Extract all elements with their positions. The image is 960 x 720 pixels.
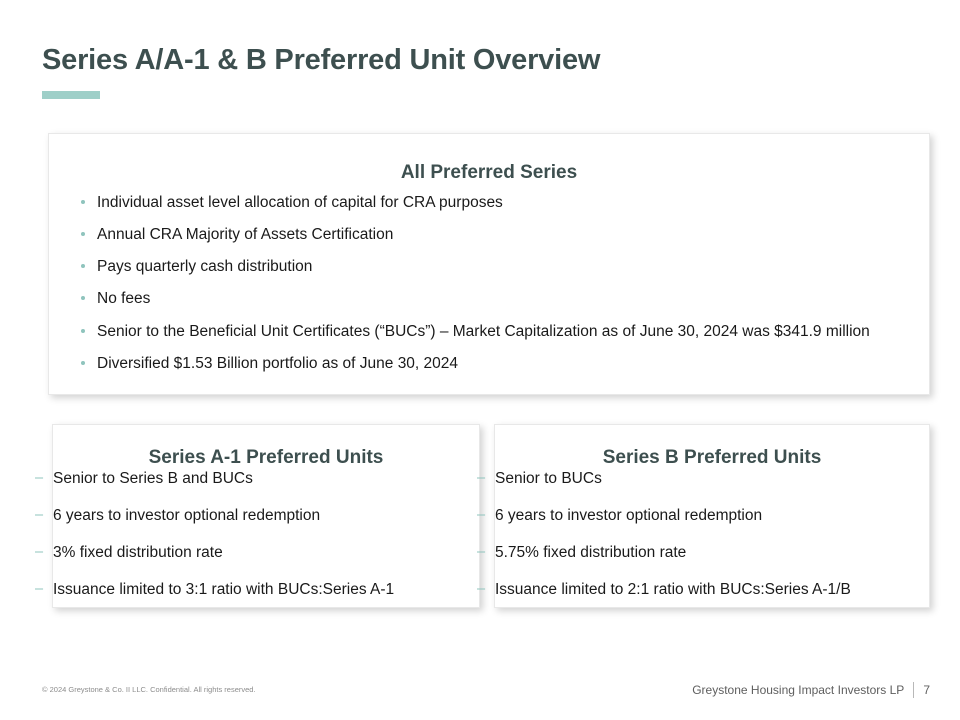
- card-series-a1: Series A-1 Preferred Units – Senior to S…: [52, 424, 480, 608]
- list-item: – Senior to BUCs: [495, 469, 929, 489]
- list-item: – Issuance limited to 2:1 ratio with BUC…: [495, 580, 929, 600]
- list-item-text: Issuance limited to 2:1 ratio with BUCs:…: [495, 581, 851, 598]
- bullet-dot-icon: [81, 200, 85, 204]
- bullet-dot-icon: [81, 361, 85, 365]
- bullet-dash-icon: –: [477, 580, 485, 599]
- bullet-dash-icon: –: [35, 543, 43, 562]
- bullet-list-all-preferred: Individual asset level allocation of cap…: [49, 193, 929, 374]
- list-item: Pays quarterly cash distribution: [97, 257, 889, 277]
- bullet-dash-icon: –: [35, 506, 43, 525]
- list-item-text: Individual asset level allocation of cap…: [97, 194, 503, 211]
- footer-right: Greystone Housing Impact Investors LP 7: [692, 682, 930, 698]
- footer-copyright: © 2024 Greystone & Co. II LLC. Confident…: [42, 685, 256, 694]
- list-item-text: Pays quarterly cash distribution: [97, 258, 312, 275]
- list-item: Senior to the Beneficial Unit Certificat…: [97, 322, 889, 342]
- list-item-text: Annual CRA Majority of Assets Certificat…: [97, 226, 393, 243]
- list-item: Individual asset level allocation of cap…: [97, 193, 889, 213]
- footer-company-name: Greystone Housing Impact Investors LP: [692, 683, 904, 697]
- list-item-text: 5.75% fixed distribution rate: [495, 544, 686, 561]
- list-item-text: 6 years to investor optional redemption: [53, 507, 320, 524]
- title-accent-bar: [42, 91, 100, 99]
- bullet-dot-icon: [81, 329, 85, 333]
- bullet-dot-icon: [81, 232, 85, 236]
- bullet-dash-icon: –: [35, 469, 43, 488]
- list-item: – 6 years to investor optional redemptio…: [53, 506, 479, 526]
- bullet-dash-icon: –: [35, 580, 43, 599]
- page-number: 7: [923, 683, 930, 697]
- bullet-dash-icon: –: [477, 469, 485, 488]
- list-item: No fees: [97, 289, 889, 309]
- list-item-text: Senior to the Beneficial Unit Certificat…: [97, 323, 870, 340]
- card-heading-series-b: Series B Preferred Units: [495, 447, 929, 469]
- bullet-dash-icon: –: [477, 506, 485, 525]
- bullet-list-series-b: – Senior to BUCs – 6 years to investor o…: [495, 469, 929, 601]
- list-item-text: No fees: [97, 290, 150, 307]
- list-item-text: 3% fixed distribution rate: [53, 544, 223, 561]
- list-item-text: Senior to Series B and BUCs: [53, 470, 253, 487]
- list-item: Annual CRA Majority of Assets Certificat…: [97, 225, 889, 245]
- card-series-b: Series B Preferred Units – Senior to BUC…: [494, 424, 930, 608]
- card-heading-series-a1: Series A-1 Preferred Units: [53, 447, 479, 469]
- list-item: – Issuance limited to 3:1 ratio with BUC…: [53, 580, 479, 600]
- card-all-preferred-series: All Preferred Series Individual asset le…: [48, 133, 930, 395]
- list-item: – 5.75% fixed distribution rate: [495, 543, 929, 563]
- footer-divider: [913, 682, 914, 698]
- card-heading-all-preferred: All Preferred Series: [49, 162, 929, 184]
- list-item-text: Diversified $1.53 Billion portfolio as o…: [97, 355, 458, 372]
- bullet-list-series-a1: – Senior to Series B and BUCs – 6 years …: [53, 469, 479, 601]
- list-item: – 3% fixed distribution rate: [53, 543, 479, 563]
- page-title: Series A/A-1 & B Preferred Unit Overview: [42, 44, 600, 77]
- list-item: – 6 years to investor optional redemptio…: [495, 506, 929, 526]
- bullet-dot-icon: [81, 264, 85, 268]
- bullet-dash-icon: –: [477, 543, 485, 562]
- list-item-text: 6 years to investor optional redemption: [495, 507, 762, 524]
- list-item-text: Senior to BUCs: [495, 470, 602, 487]
- list-item: – Senior to Series B and BUCs: [53, 469, 479, 489]
- list-item-text: Issuance limited to 3:1 ratio with BUCs:…: [53, 581, 394, 598]
- list-item: Diversified $1.53 Billion portfolio as o…: [97, 354, 889, 374]
- bullet-dot-icon: [81, 296, 85, 300]
